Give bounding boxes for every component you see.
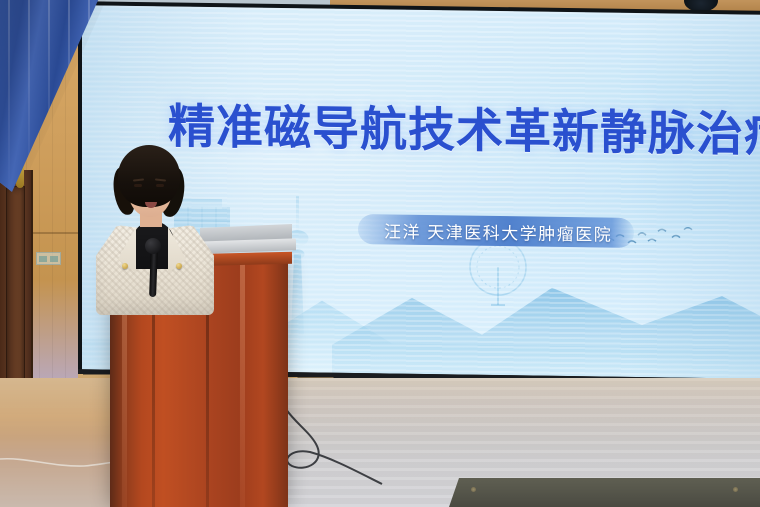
slide-subtitle: 汪洋 天津医科大学肿瘤医院 (358, 214, 634, 248)
jacket-button-right (176, 263, 182, 269)
door-panel (6, 186, 25, 399)
stage-monitor-speaker (449, 478, 760, 507)
presentation-photo: 精准磁导航技术革新静脉治疗 汪洋 天津医科大学肿瘤医院 汪 洋 (0, 0, 760, 507)
ferris-wheel-icon (470, 239, 526, 306)
speaker-person (92, 145, 222, 295)
eye-left (134, 184, 142, 187)
slide-title: 精准磁导航技术革新静脉治疗 (168, 102, 760, 158)
floor-cable-left (0, 455, 115, 471)
jacket-button-left (122, 263, 128, 269)
wall-switch-plate (36, 252, 61, 265)
eye-right (156, 184, 164, 187)
speaker-hair (118, 145, 180, 207)
mountain-front (332, 285, 760, 379)
microphone-head (145, 238, 161, 254)
